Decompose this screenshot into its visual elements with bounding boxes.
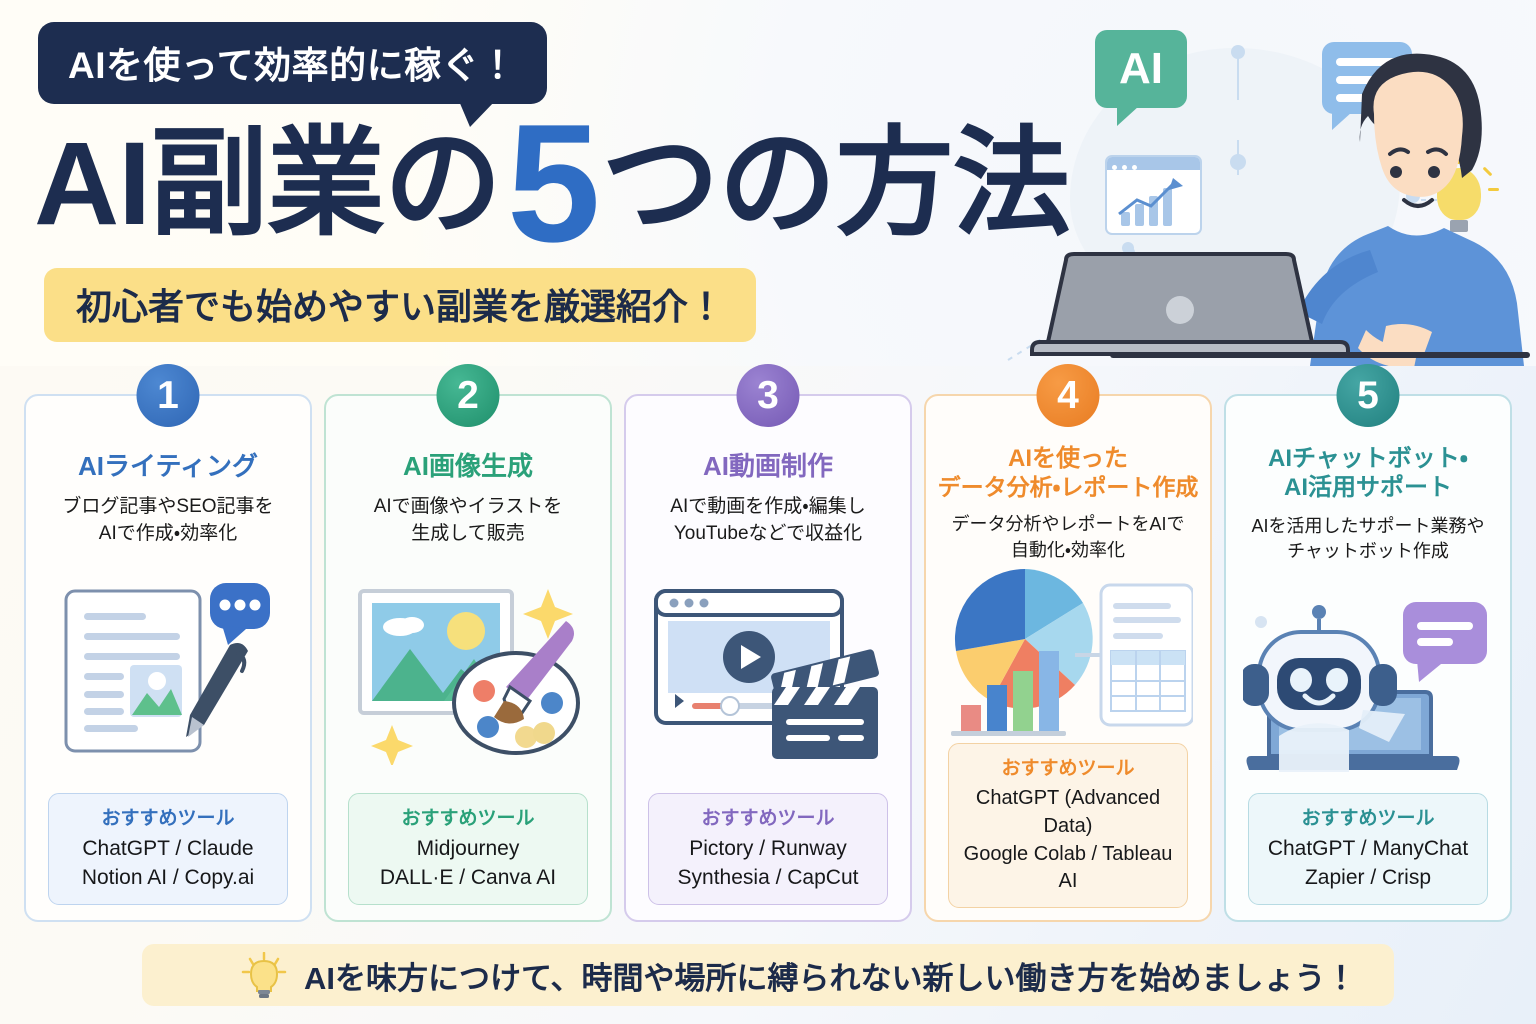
card-2-desc-line-2: 生成して販売 <box>374 521 563 548</box>
page-title-number: 5 <box>507 115 599 253</box>
card-4-desc-line-1: データ分析やレポートをAIで <box>951 512 1184 538</box>
card-4-number: 4 <box>1057 374 1079 418</box>
image-palette-icon <box>348 575 588 765</box>
chat-bubble-icon <box>1403 602 1487 682</box>
card-3-tools: おすすめツール Pictory / Runway Synthesia / Cap… <box>648 793 888 905</box>
ai-badge-icon: AI <box>1095 30 1187 108</box>
card-5-number: 5 <box>1357 374 1379 418</box>
header-section: AIを使って効率的に稼ぐ！ AI副業の 5 つの方法 初心者でも始めやすい副業を… <box>0 0 1536 366</box>
laptop-illustration-icon <box>1030 252 1370 362</box>
card-3-title: AI動画制作 <box>695 451 841 483</box>
card-2-desc-line-1: AIで画像やイラストを <box>374 494 563 521</box>
pie-bar-chart-icon <box>943 563 1193 743</box>
card-2-title: AI画像生成 <box>395 451 541 483</box>
sparkle-icon <box>371 725 413 765</box>
card-5-tools-label: おすすめツール <box>1255 803 1481 830</box>
card-4-illustration <box>926 563 1210 743</box>
card-2-illustration <box>326 548 610 793</box>
footer-lightbulb-icon <box>238 952 290 998</box>
video-player-icon <box>646 575 890 765</box>
card-ai-video-production[interactable]: 3 AI動画制作 AIで動画を作成・編集し YouTubeなどで収益化 <box>624 394 912 922</box>
card-5-tools-line-1: ChatGPT / ManyChat <box>1255 835 1481 864</box>
card-1-tools-line-2: Notion AI / Copy.ai <box>55 864 281 893</box>
card-1-number: 1 <box>157 374 179 418</box>
card-1-title: AIライティング <box>70 451 266 483</box>
ai-badge-tail-icon <box>1117 106 1139 126</box>
card-3-desc-line-1: AIで動画を作成・編集し <box>670 494 865 521</box>
card-1-illustration <box>26 548 310 793</box>
card-4-number-badge: 4 <box>1037 364 1100 427</box>
card-5-illustration <box>1226 565 1510 793</box>
card-4-title-line-2: データ分析・レポート作成 <box>938 473 1199 501</box>
comment-bubble-icon <box>210 583 270 645</box>
document-pen-icon <box>52 575 284 765</box>
cards-row: 1 AIライティング ブログ記事やSEO記事を AIで作成・効率化 <box>0 366 1536 966</box>
card-2-tools-line-1: Midjourney <box>355 835 581 864</box>
card-3-description: AIで動画を作成・編集し YouTubeなどで収益化 <box>660 494 875 548</box>
card-3-number-badge: 3 <box>737 364 800 427</box>
growth-chart-card-icon <box>1105 155 1202 235</box>
table-icon <box>1111 651 1185 711</box>
card-ai-image-generation[interactable]: 2 AI画像生成 AIで画像やイラストを 生成して販売 <box>324 394 612 922</box>
card-1-tools-label: おすすめツール <box>55 803 281 830</box>
card-4-tools-label: おすすめツール <box>955 753 1181 780</box>
card-1-desc-line-1: ブログ記事やSEO記事を <box>62 494 273 521</box>
card-5-desc-line-2: チャットボット作成 <box>1251 539 1484 565</box>
card-ai-data-analysis[interactable]: 4 AIを使った データ分析・レポート作成 データ分析やレポートをAIで 自動化… <box>924 394 1212 922</box>
footer-banner: AIを味方につけて、時間や場所に縛られない新しい働き方を始めましょう！ <box>142 944 1394 1006</box>
card-4-description: データ分析やレポートをAIで 自動化・効率化 <box>941 512 1194 563</box>
card-1-description: ブログ記事やSEO記事を AIで作成・効率化 <box>52 494 283 548</box>
card-4-tools-line-1: ChatGPT (Advanced Data) <box>955 785 1181 840</box>
card-4-tools-line-2: Google Colab / Tableau AI <box>955 841 1181 896</box>
card-ai-writing[interactable]: 1 AIライティング ブログ記事やSEO記事を AIで作成・効率化 <box>24 394 312 922</box>
card-2-description: AIで画像やイラストを 生成して販売 <box>364 494 573 548</box>
hero-illustration: AI <box>890 0 1536 366</box>
card-4-title: AIを使った データ分析・レポート作成 <box>930 444 1207 501</box>
footer-message: AIを味方につけて、時間や場所に縛られない新しい働き方を始めましょう！ <box>304 953 1356 998</box>
page-title-part1: AI副業の <box>34 125 501 243</box>
infographic-root: AIを使って効率的に稼ぐ！ AI副業の 5 つの方法 初心者でも始めやすい副業を… <box>0 0 1536 1024</box>
page-subtitle: 初心者でも始めやすい副業を厳選紹介！ <box>44 268 756 342</box>
card-1-desc-line-2: AIで作成・効率化 <box>62 521 273 548</box>
card-2-tools: おすすめツール Midjourney DALL·E / Canva AI <box>348 793 588 905</box>
card-5-desc-line-1: AIを活用したサポート業務や <box>1251 514 1484 540</box>
card-1-tools: おすすめツール ChatGPT / Claude Notion AI / Cop… <box>48 793 288 905</box>
card-5-number-badge: 5 <box>1337 364 1400 427</box>
card-3-illustration <box>626 548 910 793</box>
card-2-number-badge: 2 <box>437 364 500 427</box>
card-1-tools-line-1: ChatGPT / Claude <box>55 835 281 864</box>
card-5-title: AIチャットボット・ AI活用サポート <box>1260 444 1476 503</box>
card-1-number-badge: 1 <box>137 364 200 427</box>
card-5-description: AIを活用したサポート業務や チャットボット作成 <box>1241 514 1494 565</box>
card-ai-chatbot-support[interactable]: 5 AIチャットボット・ AI活用サポート AIを活用したサポート業務や チャッ… <box>1224 394 1512 922</box>
card-3-tools-label: おすすめツール <box>655 803 881 830</box>
robot-laptop-icon <box>1243 586 1493 772</box>
card-4-title-line-1: AIを使った <box>938 444 1199 473</box>
card-3-number: 3 <box>757 374 779 418</box>
header-bubble-text: AIを使って効率的に稼ぐ！ <box>68 45 517 86</box>
ai-badge-label: AI <box>1119 44 1163 94</box>
card-5-tools: おすすめツール ChatGPT / ManyChat Zapier / Cris… <box>1248 793 1488 905</box>
card-2-number: 2 <box>457 374 479 418</box>
card-4-tools: おすすめツール ChatGPT (Advanced Data) Google C… <box>948 743 1188 907</box>
card-4-desc-line-2: 自動化・効率化 <box>951 538 1184 564</box>
card-3-tools-line-2: Synthesia / CapCut <box>655 864 881 893</box>
card-3-desc-line-2: YouTubeなどで収益化 <box>670 521 865 548</box>
card-5-title-line-1: AIチャットボット・ <box>1268 444 1468 473</box>
card-2-tools-label: おすすめツール <box>355 803 581 830</box>
card-5-tools-line-2: Zapier / Crisp <box>1255 864 1481 893</box>
card-5-title-line-2: AI活用サポート <box>1268 473 1468 502</box>
header-speech-bubble: AIを使って効率的に稼ぐ！ <box>38 22 547 104</box>
card-2-tools-line-2: DALL·E / Canva AI <box>355 864 581 893</box>
card-3-tools-line-1: Pictory / Runway <box>655 835 881 864</box>
